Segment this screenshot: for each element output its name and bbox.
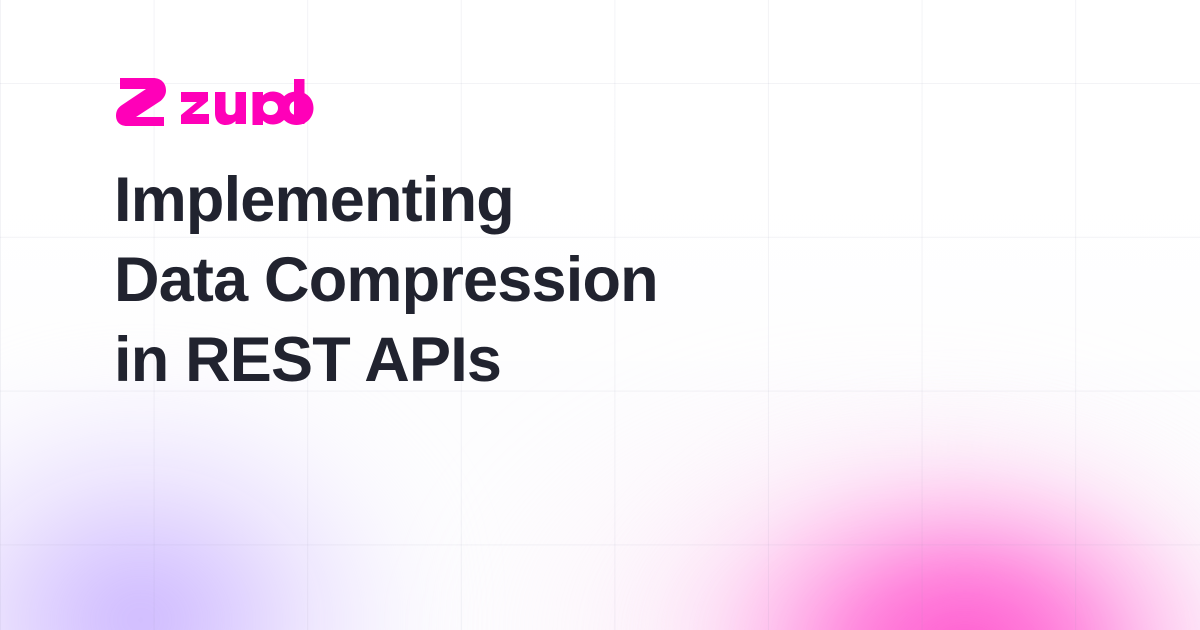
page-title: Implementing Data Compression in REST AP… xyxy=(114,160,874,400)
zuplo-z-mark-icon xyxy=(116,78,166,126)
zuplo-logo[interactable] xyxy=(116,74,322,130)
zuplo-wordmark xyxy=(180,79,322,125)
social-share-card: Implementing Data Compression in REST AP… xyxy=(0,0,1200,630)
